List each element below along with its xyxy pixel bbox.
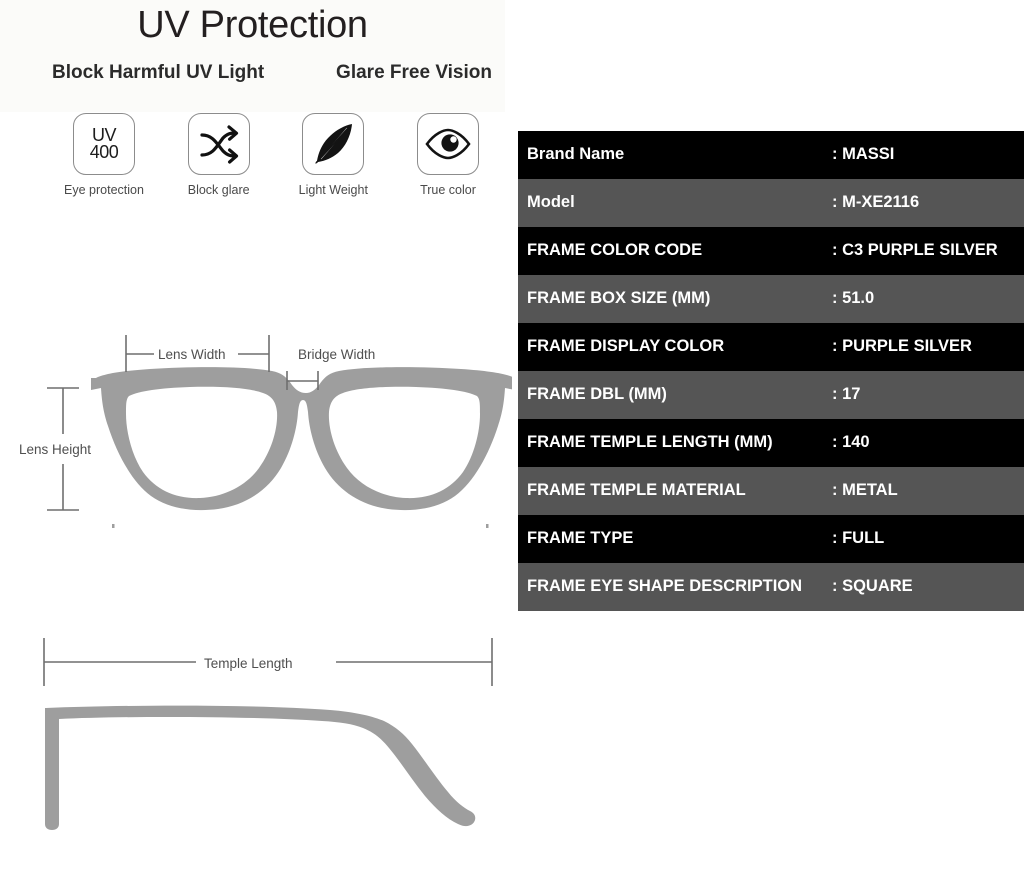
feature-label-block-glare: Block glare — [188, 183, 250, 197]
feature-label-light-weight: Light Weight — [299, 183, 368, 197]
subtitle-glare-free-vision: Glare Free Vision — [336, 62, 492, 84]
spec-value: : 17 — [832, 385, 1024, 404]
spec-label: Model — [518, 193, 832, 212]
table-row: FRAME TEMPLE MATERIAL : METAL — [518, 467, 1024, 515]
spec-value: : M-XE2116 — [832, 193, 1024, 212]
spec-value: : 140 — [832, 433, 1024, 452]
temple-length-label: Temple Length — [204, 656, 293, 671]
table-row: FRAME BOX SIZE (MM) : 51.0 — [518, 275, 1024, 323]
spec-label: FRAME TYPE — [518, 529, 832, 548]
subtitle-block-harmful-uv-light: Block Harmful UV Light — [52, 62, 264, 84]
feature-label-true-color: True color — [420, 183, 476, 197]
eye-icon — [417, 113, 479, 175]
uv400-line-2: 400 — [90, 144, 119, 161]
spec-value: : 51.0 — [832, 289, 1024, 308]
table-row: FRAME DISPLAY COLOR : PURPLE SILVER — [518, 323, 1024, 371]
bridge-width-label: Bridge Width — [298, 347, 375, 362]
spec-label: FRAME BOX SIZE (MM) — [518, 289, 832, 308]
spec-value: : FULL — [832, 529, 1024, 548]
spec-value: : SQUARE — [832, 577, 1024, 596]
frame-temple-dimension-diagram: Temple Length — [0, 620, 512, 880]
spec-value: : METAL — [832, 481, 1024, 500]
feather-icon — [302, 113, 364, 175]
frame-front-dimension-diagram: Lens Width Bridge Width Lens Height — [0, 330, 512, 550]
lens-width-label: Lens Width — [158, 347, 226, 362]
uv-protection-banner: UV Protection Block Harmful UV Light Gla… — [0, 0, 505, 112]
spec-value: : PURPLE SILVER — [832, 337, 1024, 356]
shuffle-arrows-icon — [188, 113, 250, 175]
left-illustration-column: UV Protection Block Harmful UV Light Gla… — [0, 0, 512, 886]
table-row: FRAME EYE SHAPE DESCRIPTION : SQUARE — [518, 563, 1024, 611]
table-row: FRAME TEMPLE LENGTH (MM) : 140 — [518, 419, 1024, 467]
feature-icon-row: UV 400 Eye protection — [56, 113, 496, 197]
spec-label: FRAME EYE SHAPE DESCRIPTION — [518, 577, 832, 596]
spec-label: Brand Name — [518, 145, 832, 164]
product-specification-table: Brand Name : MASSI Model : M-XE2116 FRAM… — [518, 131, 1024, 611]
feature-eye-protection: UV 400 Eye protection — [56, 113, 152, 197]
table-row: FRAME TYPE : FULL — [518, 515, 1024, 563]
feature-block-glare: Block glare — [171, 113, 267, 197]
uv400-badge-icon: UV 400 — [73, 113, 135, 175]
spec-label: FRAME DISPLAY COLOR — [518, 337, 832, 356]
uv-protection-title: UV Protection — [0, 4, 505, 47]
product-spec-infographic: UV Protection Block Harmful UV Light Gla… — [0, 0, 1024, 886]
table-row: FRAME COLOR CODE : C3 PURPLE SILVER — [518, 227, 1024, 275]
table-row: FRAME DBL (MM) : 17 — [518, 371, 1024, 419]
spec-value: : C3 PURPLE SILVER — [832, 241, 1024, 260]
spec-label: FRAME TEMPLE MATERIAL — [518, 481, 832, 500]
spec-label: FRAME DBL (MM) — [518, 385, 832, 404]
table-row: Brand Name : MASSI — [518, 131, 1024, 179]
spec-label: FRAME TEMPLE LENGTH (MM) — [518, 433, 832, 452]
spec-value: : MASSI — [832, 145, 1024, 164]
feature-true-color: True color — [400, 113, 496, 197]
feature-light-weight: Light Weight — [285, 113, 381, 197]
spec-label: FRAME COLOR CODE — [518, 241, 832, 260]
lens-height-label: Lens Height — [19, 442, 91, 457]
uv-protection-subtitles: Block Harmful UV Light Glare Free Vision — [52, 62, 492, 84]
feature-label-eye-protection: Eye protection — [64, 183, 144, 197]
table-row: Model : M-XE2116 — [518, 179, 1024, 227]
